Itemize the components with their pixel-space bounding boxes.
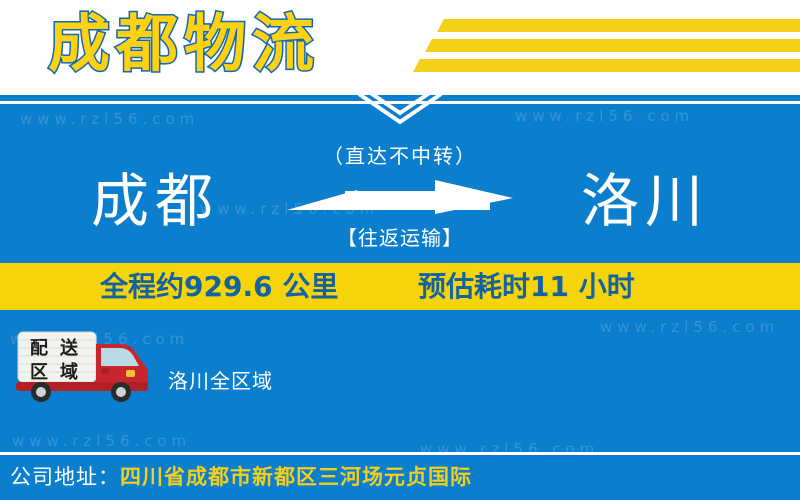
truck-box-char-1: 配 bbox=[30, 338, 48, 359]
address-bar: 公司地址：四川省成都市新都区三河场元贞国际 bbox=[0, 455, 800, 500]
duration-text: 预估耗时11 小时 bbox=[418, 268, 635, 306]
decorative-stripe-1 bbox=[437, 19, 800, 32]
delivery-area-label: 洛川全区域 bbox=[168, 365, 273, 394]
watermark-1: www.rzl56.com bbox=[20, 110, 199, 128]
distance-text: 全程约929.6 公里 bbox=[100, 268, 338, 306]
truck-box-char-4: 域 bbox=[60, 361, 78, 383]
decorative-stripe-2 bbox=[425, 39, 800, 52]
decorative-stripe-3 bbox=[413, 59, 800, 72]
watermark-2: www.rzl56.com bbox=[515, 107, 694, 125]
delivery-truck-icon: 配 送 区 域 bbox=[8, 330, 158, 402]
route-note-roundtrip: 【往返运输】 bbox=[280, 222, 520, 251]
origin-city: 成都 bbox=[30, 165, 280, 237]
watermark-6: www.rzl56.com bbox=[12, 432, 191, 450]
header-strip: 成都物流 bbox=[0, 0, 800, 95]
page-title: 成都物流 bbox=[48, 4, 320, 84]
address-value: 四川省成都市新都区三河场元贞国际 bbox=[120, 465, 472, 489]
destination-city: 洛川 bbox=[520, 165, 770, 237]
logistics-banner: 成都物流 成都 （直达不中转） 【往返运输】 洛川 全程约929.6 公里 预估… bbox=[0, 0, 800, 500]
watermark-4: www.rzl56.com bbox=[600, 318, 779, 336]
stats-bar: 全程约929.6 公里 预估耗时11 小时 bbox=[0, 263, 800, 310]
bidirectional-arrow-icon bbox=[285, 178, 515, 220]
truck-box-char-2: 送 bbox=[59, 337, 79, 359]
truck-box-char-3: 区 bbox=[30, 362, 48, 383]
company-address: 公司地址：四川省成都市新都区三河场元贞国际 bbox=[10, 461, 472, 493]
address-label: 公司地址： bbox=[10, 465, 120, 489]
chevron-down-icon bbox=[355, 92, 445, 126]
route-note-direct: （直达不中转） bbox=[280, 140, 520, 169]
